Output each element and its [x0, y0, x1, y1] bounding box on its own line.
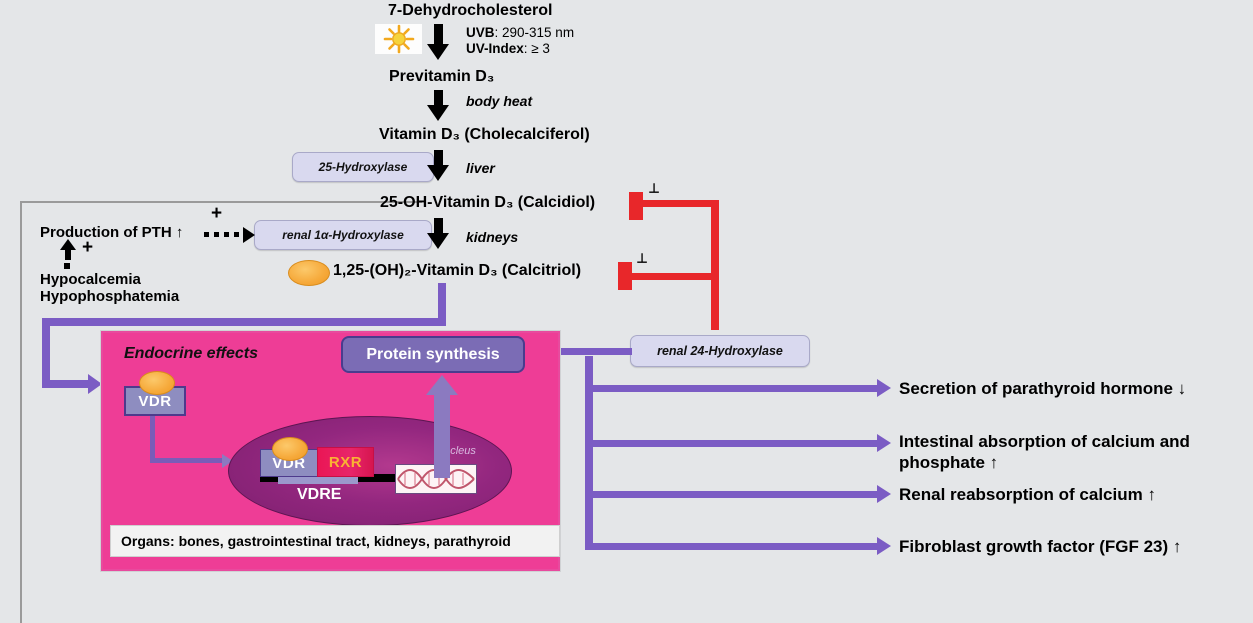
- pathway-step-7-dehydrocholesterol: 7-Dehydrocholesterol: [388, 2, 552, 20]
- inhibition-trunk-vertical: [711, 200, 719, 330]
- cause-hypocalcemia: Hypocalcemia: [40, 271, 141, 288]
- inhibition-marker-mid-icon: ⊣: [634, 252, 650, 263]
- enzyme-renal-1a-hydroxylase[interactable]: renal 1α-Hydroxylase: [254, 220, 432, 250]
- vdre-label: VDRE: [297, 486, 341, 504]
- purple-path-left-down: [42, 318, 50, 384]
- effect-branch-4: [585, 543, 879, 550]
- up-arrow-cause-dot: [64, 263, 70, 269]
- effect-arrowhead-2: [877, 434, 891, 452]
- inhibition-bar-calcidiol: [629, 192, 643, 220]
- condition-liver: liver: [466, 160, 495, 176]
- uvb-value: : 290-315 nm: [495, 25, 575, 40]
- vdr-ligand-icon: [139, 371, 175, 395]
- effect-arrowhead-4: [877, 537, 891, 555]
- vdr-translocation-vertical: [150, 412, 155, 461]
- inhibition-branch-top: [634, 200, 714, 207]
- effect-label-3: Renal reabsorption of calcium ↑: [899, 485, 1156, 505]
- effect-label-2-line1: Intestinal absorption of calcium and: [899, 432, 1190, 452]
- arrow-head-1: [427, 44, 449, 60]
- up-arrow-cause-head: [60, 239, 76, 250]
- purple-path-horizontal: [42, 318, 446, 326]
- pathway-step-calcitriol: 1,25-(OH)₂-Vitamin D₃ (Calcitriol): [333, 262, 581, 280]
- effect-branch-2: [585, 440, 879, 447]
- calcitriol-molecule-icon: [288, 260, 330, 286]
- uv-note-index: UV-Index: ≥ 3: [466, 41, 550, 56]
- protein-synthesis-box[interactable]: Protein synthesis: [341, 336, 525, 373]
- uvindex-label: UV-Index: [466, 41, 524, 56]
- arrow-head-2: [427, 105, 449, 121]
- condition-kidneys: kidneys: [466, 229, 518, 245]
- enzyme-25-hydroxylase[interactable]: 25-Hydroxylase: [292, 152, 434, 182]
- uvindex-value: : ≥ 3: [524, 41, 550, 56]
- uv-note-uvb: UVB: 290-315 nm: [466, 25, 574, 40]
- dotted-arrow-pth: [204, 232, 244, 237]
- effect-branch-1: [585, 385, 879, 392]
- arrow-shaft-1: [434, 24, 443, 46]
- rxr-box: RXR: [317, 447, 374, 477]
- nuclear-vdr-ligand-icon: [272, 437, 308, 461]
- cell-title: Endocrine effects: [124, 345, 258, 363]
- arrow-head-3: [427, 165, 449, 181]
- organs-strip: Organs: bones, gastrointestinal tract, k…: [110, 525, 560, 557]
- cause-hypophosphatemia: Hypophosphatemia: [40, 288, 179, 305]
- purple-path-calcitriol-down: [438, 283, 446, 321]
- arrow-head-4: [427, 233, 449, 249]
- plus-sign-cause: +: [82, 237, 93, 259]
- effect-label-1: Secretion of parathyroid hormone ↓: [899, 379, 1186, 399]
- effect-branch-3: [585, 491, 879, 498]
- effect-arrowhead-3: [877, 485, 891, 503]
- enzyme-renal-24-hydroxylase[interactable]: renal 24-Hydroxylase: [630, 335, 810, 367]
- effect-label-4: Fibroblast growth factor (FGF 23) ↑: [899, 537, 1181, 557]
- uvb-label: UVB: [466, 25, 495, 40]
- pathway-step-vitamin-d3: Vitamin D₃ (Cholecalciferol): [379, 126, 590, 144]
- effect-label-2-line2: phosphate ↑: [899, 453, 998, 473]
- purple-path-into-cell: [42, 380, 90, 388]
- pathway-step-calcidiol: 25-OH-Vitamin D₃ (Calcidiol): [380, 194, 595, 212]
- pathway-step-previtamin-d3: Previtamin D₃: [389, 68, 494, 86]
- inhibition-branch-mid: [622, 273, 714, 280]
- protein-synthesis-arrow-shaft: [434, 390, 450, 478]
- inhibition-bar-calcitriol: [618, 262, 632, 290]
- effect-arrowhead-1: [877, 379, 891, 397]
- sun-icon: [375, 24, 422, 54]
- plus-sign-pth: +: [211, 203, 222, 225]
- frame-connector-line: [22, 201, 377, 203]
- vdr-translocation-horizontal: [150, 458, 223, 463]
- protein-synthesis-arrow-head: [426, 375, 458, 395]
- inhibition-marker-top-icon: ⊣: [646, 182, 662, 193]
- condition-body-heat: body heat: [466, 93, 532, 109]
- purple-path-arrowhead: [88, 374, 102, 394]
- dotted-arrow-pth-head: [243, 227, 255, 243]
